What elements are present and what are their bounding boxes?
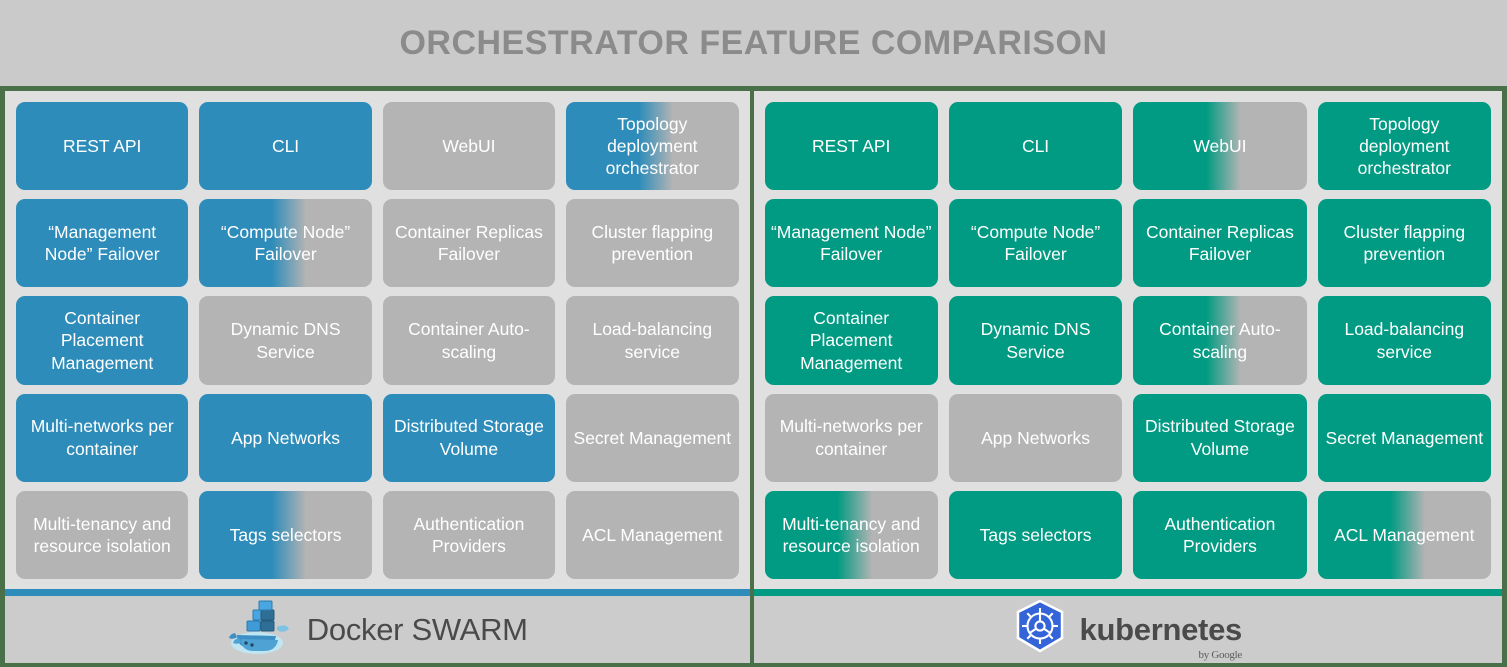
feature-cell-label: Load-balancing service	[1324, 318, 1485, 363]
feature-cell-label: “Compute Node” Failover	[955, 221, 1116, 266]
feature-cell[interactable]: Load-balancing service	[1318, 296, 1491, 384]
feature-cell-label: Secret Management	[1326, 427, 1484, 449]
feature-cell-label: Multi-tenancy and resource isolation	[22, 513, 182, 558]
feature-cell[interactable]: Multi-networks per container	[765, 394, 938, 482]
feature-row: “Management Node” Failover“Compute Node”…	[765, 199, 1492, 287]
feature-cell[interactable]: ACL Management	[1318, 491, 1491, 579]
feature-cell-label: Container Replicas Failover	[1139, 221, 1300, 266]
feature-cell-label: ACL Management	[1334, 524, 1474, 546]
feature-cell[interactable]: ACL Management	[566, 491, 738, 579]
docker-whale-icon	[227, 599, 293, 660]
feature-cell[interactable]: WebUI	[383, 102, 555, 190]
feature-cell[interactable]: Multi-tenancy and resource isolation	[16, 491, 188, 579]
feature-cell-label: Multi-networks per container	[22, 415, 182, 460]
feature-cell[interactable]: Cluster flapping prevention	[1318, 199, 1491, 287]
feature-cell-label: Distributed Storage Volume	[1139, 415, 1300, 460]
feature-cell[interactable]: Authentication Providers	[383, 491, 555, 579]
feature-cell-label: Container Auto-scaling	[389, 318, 549, 363]
feature-cell[interactable]: Multi-networks per container	[16, 394, 188, 482]
accent-bar-docker	[5, 589, 750, 596]
feature-cell-label: “Compute Node” Failover	[205, 221, 365, 266]
feature-cell-label: Topology deployment orchestrator	[572, 113, 732, 180]
feature-cell[interactable]: REST API	[765, 102, 938, 190]
feature-row: REST APICLIWebUITopology deployment orch…	[765, 102, 1492, 190]
feature-grid-docker-swarm: REST APICLIWebUITopology deployment orch…	[5, 91, 750, 589]
feature-cell[interactable]: Cluster flapping prevention	[566, 199, 738, 287]
feature-cell-label: Authentication Providers	[389, 513, 549, 558]
feature-row: Multi-tenancy and resource isolationTags…	[765, 491, 1492, 579]
feature-cell[interactable]: “Compute Node” Failover	[199, 199, 371, 287]
kubernetes-wordmark-text: kubernetes	[1080, 612, 1242, 647]
feature-row: Multi-networks per containerApp Networks…	[765, 394, 1492, 482]
feature-cell-label: Container Placement Management	[771, 307, 932, 374]
feature-cell-label: App Networks	[981, 427, 1090, 449]
feature-row: REST APICLIWebUITopology deployment orch…	[16, 102, 739, 190]
feature-cell[interactable]: Authentication Providers	[1133, 491, 1306, 579]
feature-cell[interactable]: WebUI	[1133, 102, 1306, 190]
kubernetes-helm-icon	[1014, 600, 1066, 659]
feature-cell[interactable]: Dynamic DNS Service	[949, 296, 1122, 384]
feature-cell-label: REST API	[812, 135, 890, 157]
page-title: ORCHESTRATOR FEATURE COMPARISON	[399, 24, 1107, 63]
feature-cell[interactable]: REST API	[16, 102, 188, 190]
footer-kubernetes: kubernetes by Google	[754, 596, 1503, 663]
accent-bar-kubernetes	[754, 589, 1503, 596]
feature-cell[interactable]: Secret Management	[1318, 394, 1491, 482]
feature-cell-label: App Networks	[231, 427, 340, 449]
feature-cell-label: Authentication Providers	[1139, 513, 1300, 558]
feature-cell-label: CLI	[272, 135, 299, 157]
feature-cell[interactable]: “Management Node” Failover	[16, 199, 188, 287]
feature-cell-label: Distributed Storage Volume	[389, 415, 549, 460]
kubernetes-wordmark: kubernetes by Google	[1080, 612, 1242, 648]
feature-cell[interactable]: Topology deployment orchestrator	[1318, 102, 1491, 190]
feature-cell-label: Multi-networks per container	[771, 415, 932, 460]
feature-cell-label: Load-balancing service	[572, 318, 732, 363]
feature-cell[interactable]: Container Replicas Failover	[383, 199, 555, 287]
feature-cell[interactable]: Load-balancing service	[566, 296, 738, 384]
footer-docker-swarm: Docker SWARM	[5, 596, 750, 663]
feature-cell-label: WebUI	[442, 135, 495, 157]
comparison-page: ORCHESTRATOR FEATURE COMPARISON REST API…	[0, 0, 1507, 667]
feature-cell-label: Cluster flapping prevention	[1324, 221, 1485, 266]
feature-cell[interactable]: Container Placement Management	[765, 296, 938, 384]
feature-cell[interactable]: Multi-tenancy and resource isolation	[765, 491, 938, 579]
feature-cell[interactable]: Container Auto-scaling	[1133, 296, 1306, 384]
feature-row: “Management Node” Failover“Compute Node”…	[16, 199, 739, 287]
feature-cell[interactable]: Secret Management	[566, 394, 738, 482]
panel-kubernetes: REST APICLIWebUITopology deployment orch…	[754, 91, 1507, 663]
kubernetes-by-google-label: by Google	[1199, 649, 1242, 661]
feature-cell[interactable]: Distributed Storage Volume	[383, 394, 555, 482]
feature-cell[interactable]: Distributed Storage Volume	[1133, 394, 1306, 482]
feature-cell[interactable]: Container Replicas Failover	[1133, 199, 1306, 287]
feature-cell[interactable]: CLI	[949, 102, 1122, 190]
feature-cell-label: CLI	[1022, 135, 1049, 157]
feature-cell[interactable]: “Compute Node” Failover	[949, 199, 1122, 287]
feature-cell-label: Dynamic DNS Service	[205, 318, 365, 363]
feature-cell-label: “Management Node” Failover	[22, 221, 182, 266]
title-bar: ORCHESTRATOR FEATURE COMPARISON	[0, 0, 1507, 86]
feature-cell-label: Cluster flapping prevention	[572, 221, 732, 266]
feature-cell-label: Container Auto-scaling	[1139, 318, 1300, 363]
feature-cell-label: REST API	[63, 135, 141, 157]
feature-cell[interactable]: App Networks	[949, 394, 1122, 482]
feature-cell[interactable]: CLI	[199, 102, 371, 190]
feature-grid-kubernetes: REST APICLIWebUITopology deployment orch…	[754, 91, 1503, 589]
feature-cell[interactable]: Tags selectors	[199, 491, 371, 579]
feature-row: Container Placement ManagementDynamic DN…	[765, 296, 1492, 384]
feature-row: Multi-networks per containerApp Networks…	[16, 394, 739, 482]
feature-cell-label: Dynamic DNS Service	[955, 318, 1116, 363]
panel-docker-swarm: REST APICLIWebUITopology deployment orch…	[0, 91, 754, 663]
feature-cell[interactable]: Container Placement Management	[16, 296, 188, 384]
feature-cell-label: Container Placement Management	[22, 307, 182, 374]
feature-cell[interactable]: Container Auto-scaling	[383, 296, 555, 384]
feature-cell-label: ACL Management	[582, 524, 722, 546]
feature-cell-label: Container Replicas Failover	[389, 221, 549, 266]
feature-cell[interactable]: Dynamic DNS Service	[199, 296, 371, 384]
feature-row: Multi-tenancy and resource isolationTags…	[16, 491, 739, 579]
feature-cell[interactable]: Tags selectors	[949, 491, 1122, 579]
feature-cell-label: WebUI	[1193, 135, 1246, 157]
feature-cell-label: Multi-tenancy and resource isolation	[771, 513, 932, 558]
feature-row: Container Placement ManagementDynamic DN…	[16, 296, 739, 384]
feature-cell-label: “Management Node” Failover	[771, 221, 932, 266]
docker-swarm-wordmark: Docker SWARM	[307, 612, 528, 648]
feature-cell-label: Topology deployment orchestrator	[1324, 113, 1485, 180]
feature-cell[interactable]: “Management Node” Failover	[765, 199, 938, 287]
feature-cell-label: Secret Management	[574, 427, 732, 449]
feature-cell[interactable]: Topology deployment orchestrator	[566, 102, 738, 190]
feature-cell[interactable]: App Networks	[199, 394, 371, 482]
comparison-frame: REST APICLIWebUITopology deployment orch…	[0, 86, 1507, 667]
feature-cell-label: Tags selectors	[230, 524, 342, 546]
feature-cell-label: Tags selectors	[980, 524, 1092, 546]
